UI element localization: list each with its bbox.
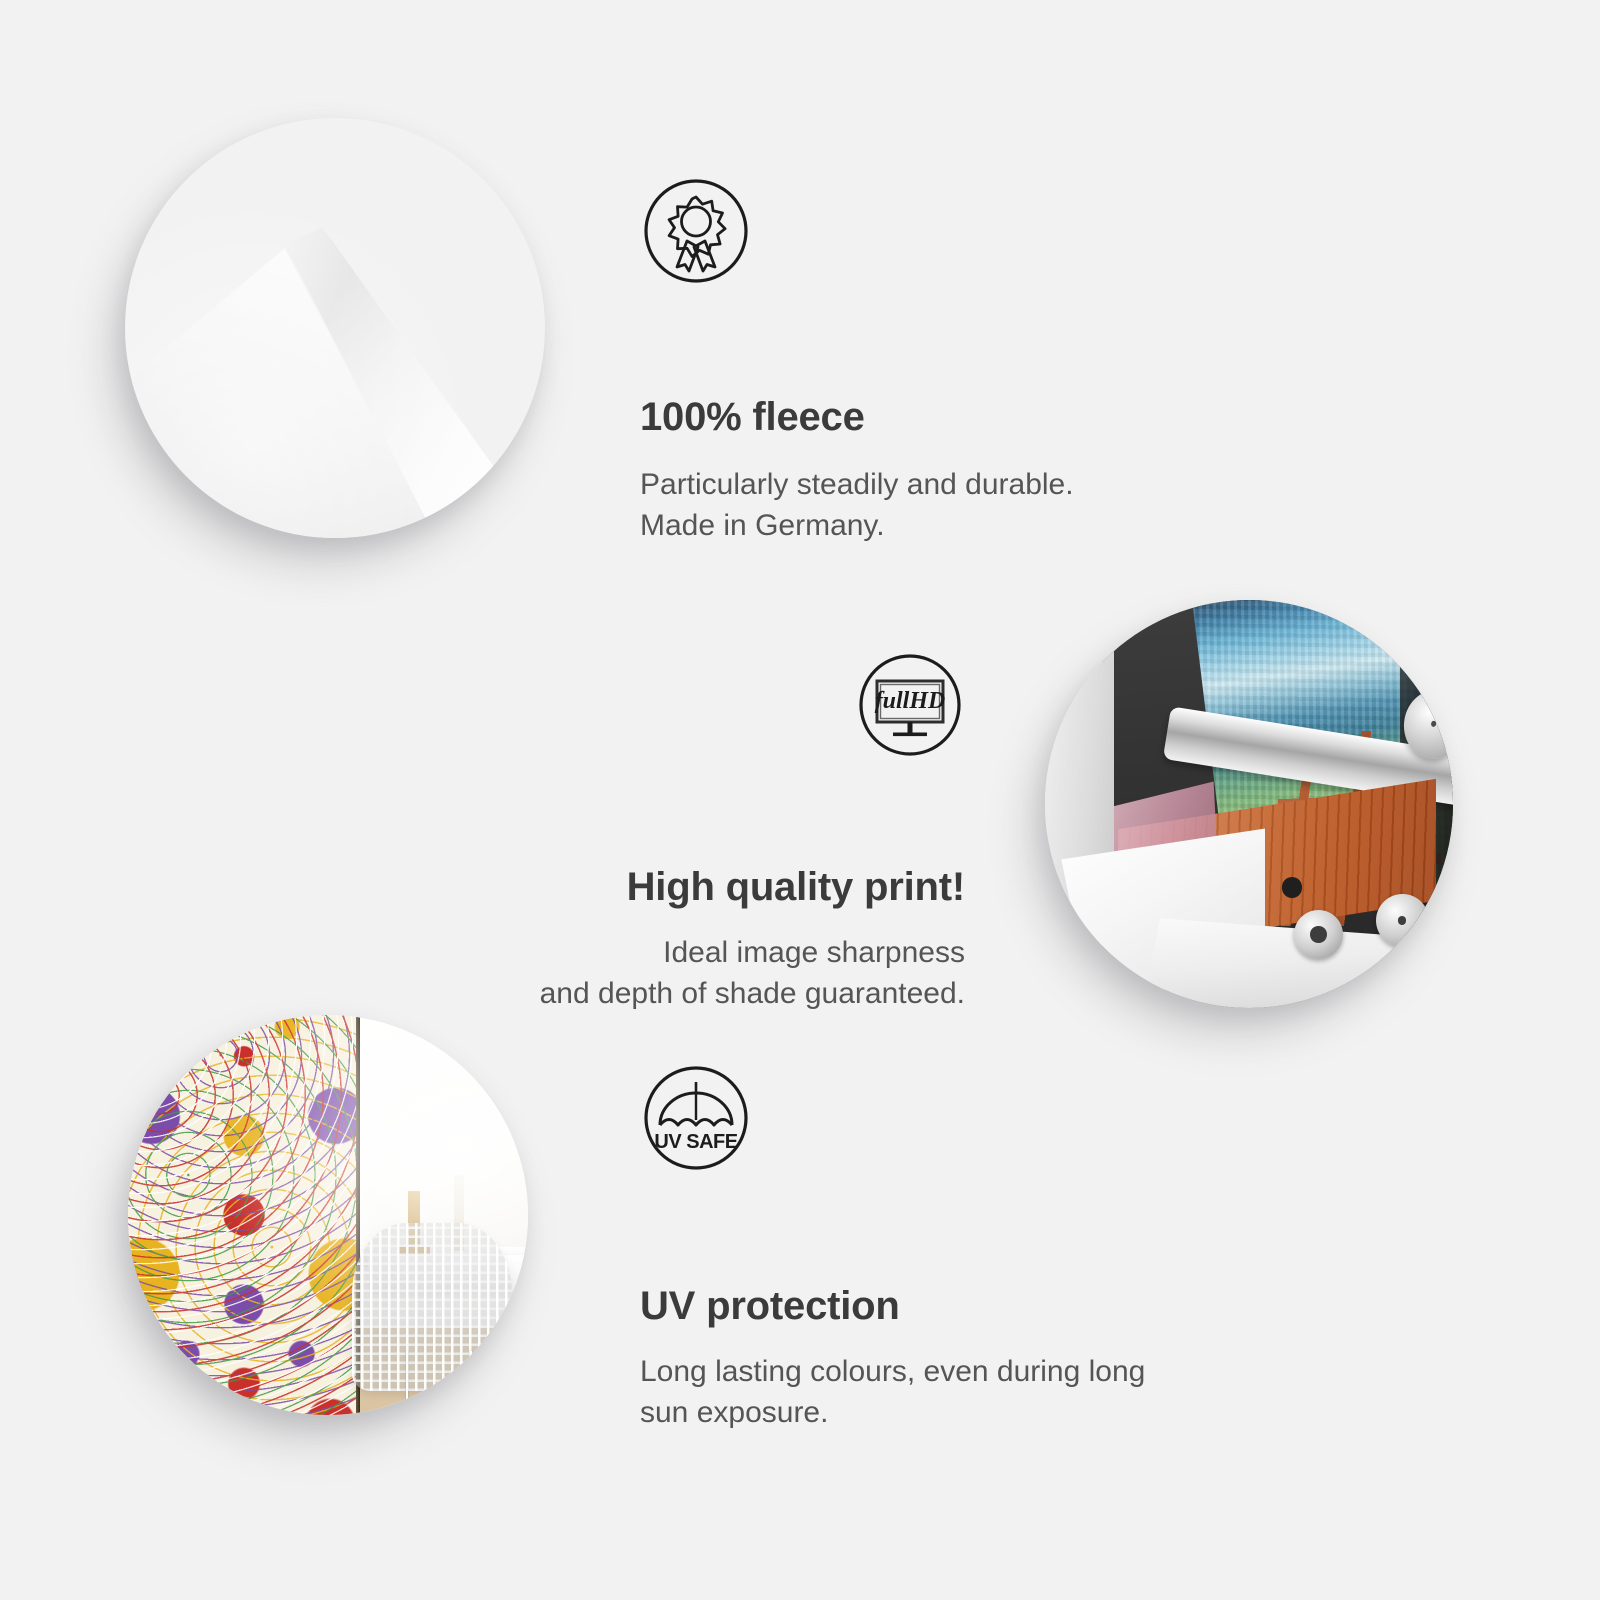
paisley-wallpaper-wall	[128, 1015, 360, 1415]
paisley-dot-detail	[128, 1015, 360, 1415]
printer-bolt	[1282, 877, 1302, 897]
feature-body-print: Ideal image sharpness and depth of shade…	[320, 932, 965, 1015]
uv-safe-umbrella-icon: UV SAFE	[640, 1062, 1320, 1174]
printer-knob-right	[1376, 894, 1429, 947]
feature-body-uv: Long lasting colours, even during long s…	[640, 1351, 1320, 1434]
feature-body-line: Made in Germany.	[640, 505, 1280, 546]
feature-body-line: Ideal image sharpness	[320, 932, 965, 973]
fullhd-monitor-icon: fullHD	[320, 650, 965, 765]
uv-safe-label: UV SAFE	[654, 1131, 737, 1153]
feature-body-line: Particularly steadily and durable.	[640, 464, 1280, 505]
feature-body-line: Long lasting colours, even during long	[640, 1351, 1320, 1392]
fleece-highlight	[125, 118, 545, 538]
infographic-page: 100% fleece Particularly steadily and du…	[0, 0, 1600, 1600]
feature-body-line: sun exposure.	[640, 1392, 1320, 1433]
feature-title-print: High quality print!	[320, 865, 965, 910]
large-format-printer-photo	[1045, 600, 1453, 1008]
curled-fleece-wallpaper-sheet-photo	[125, 118, 545, 538]
printer-knob-left	[1294, 910, 1343, 959]
feature-body-fleece: Particularly steadily and durable. Made …	[640, 464, 1280, 547]
feature-block-uv: UV SAFE UV protection Long lasting colou…	[640, 1062, 1320, 1434]
award-ribbon-icon	[640, 175, 1280, 287]
wire-chair	[352, 1223, 512, 1391]
feature-block-print: fullHD High quality print! Ideal image s…	[320, 650, 965, 1015]
fullhd-label: fullHD	[875, 688, 946, 714]
paisley-wallpaper-room-photo	[128, 1015, 528, 1415]
feature-title-uv: UV protection	[640, 1284, 1320, 1329]
feature-block-fleece: 100% fleece Particularly steadily and du…	[640, 175, 1280, 547]
chair-leg	[406, 1351, 409, 1407]
feature-body-line: and depth of shade guaranteed.	[320, 973, 965, 1014]
chair-leg	[470, 1351, 473, 1407]
feature-title-fleece: 100% fleece	[640, 395, 1280, 440]
